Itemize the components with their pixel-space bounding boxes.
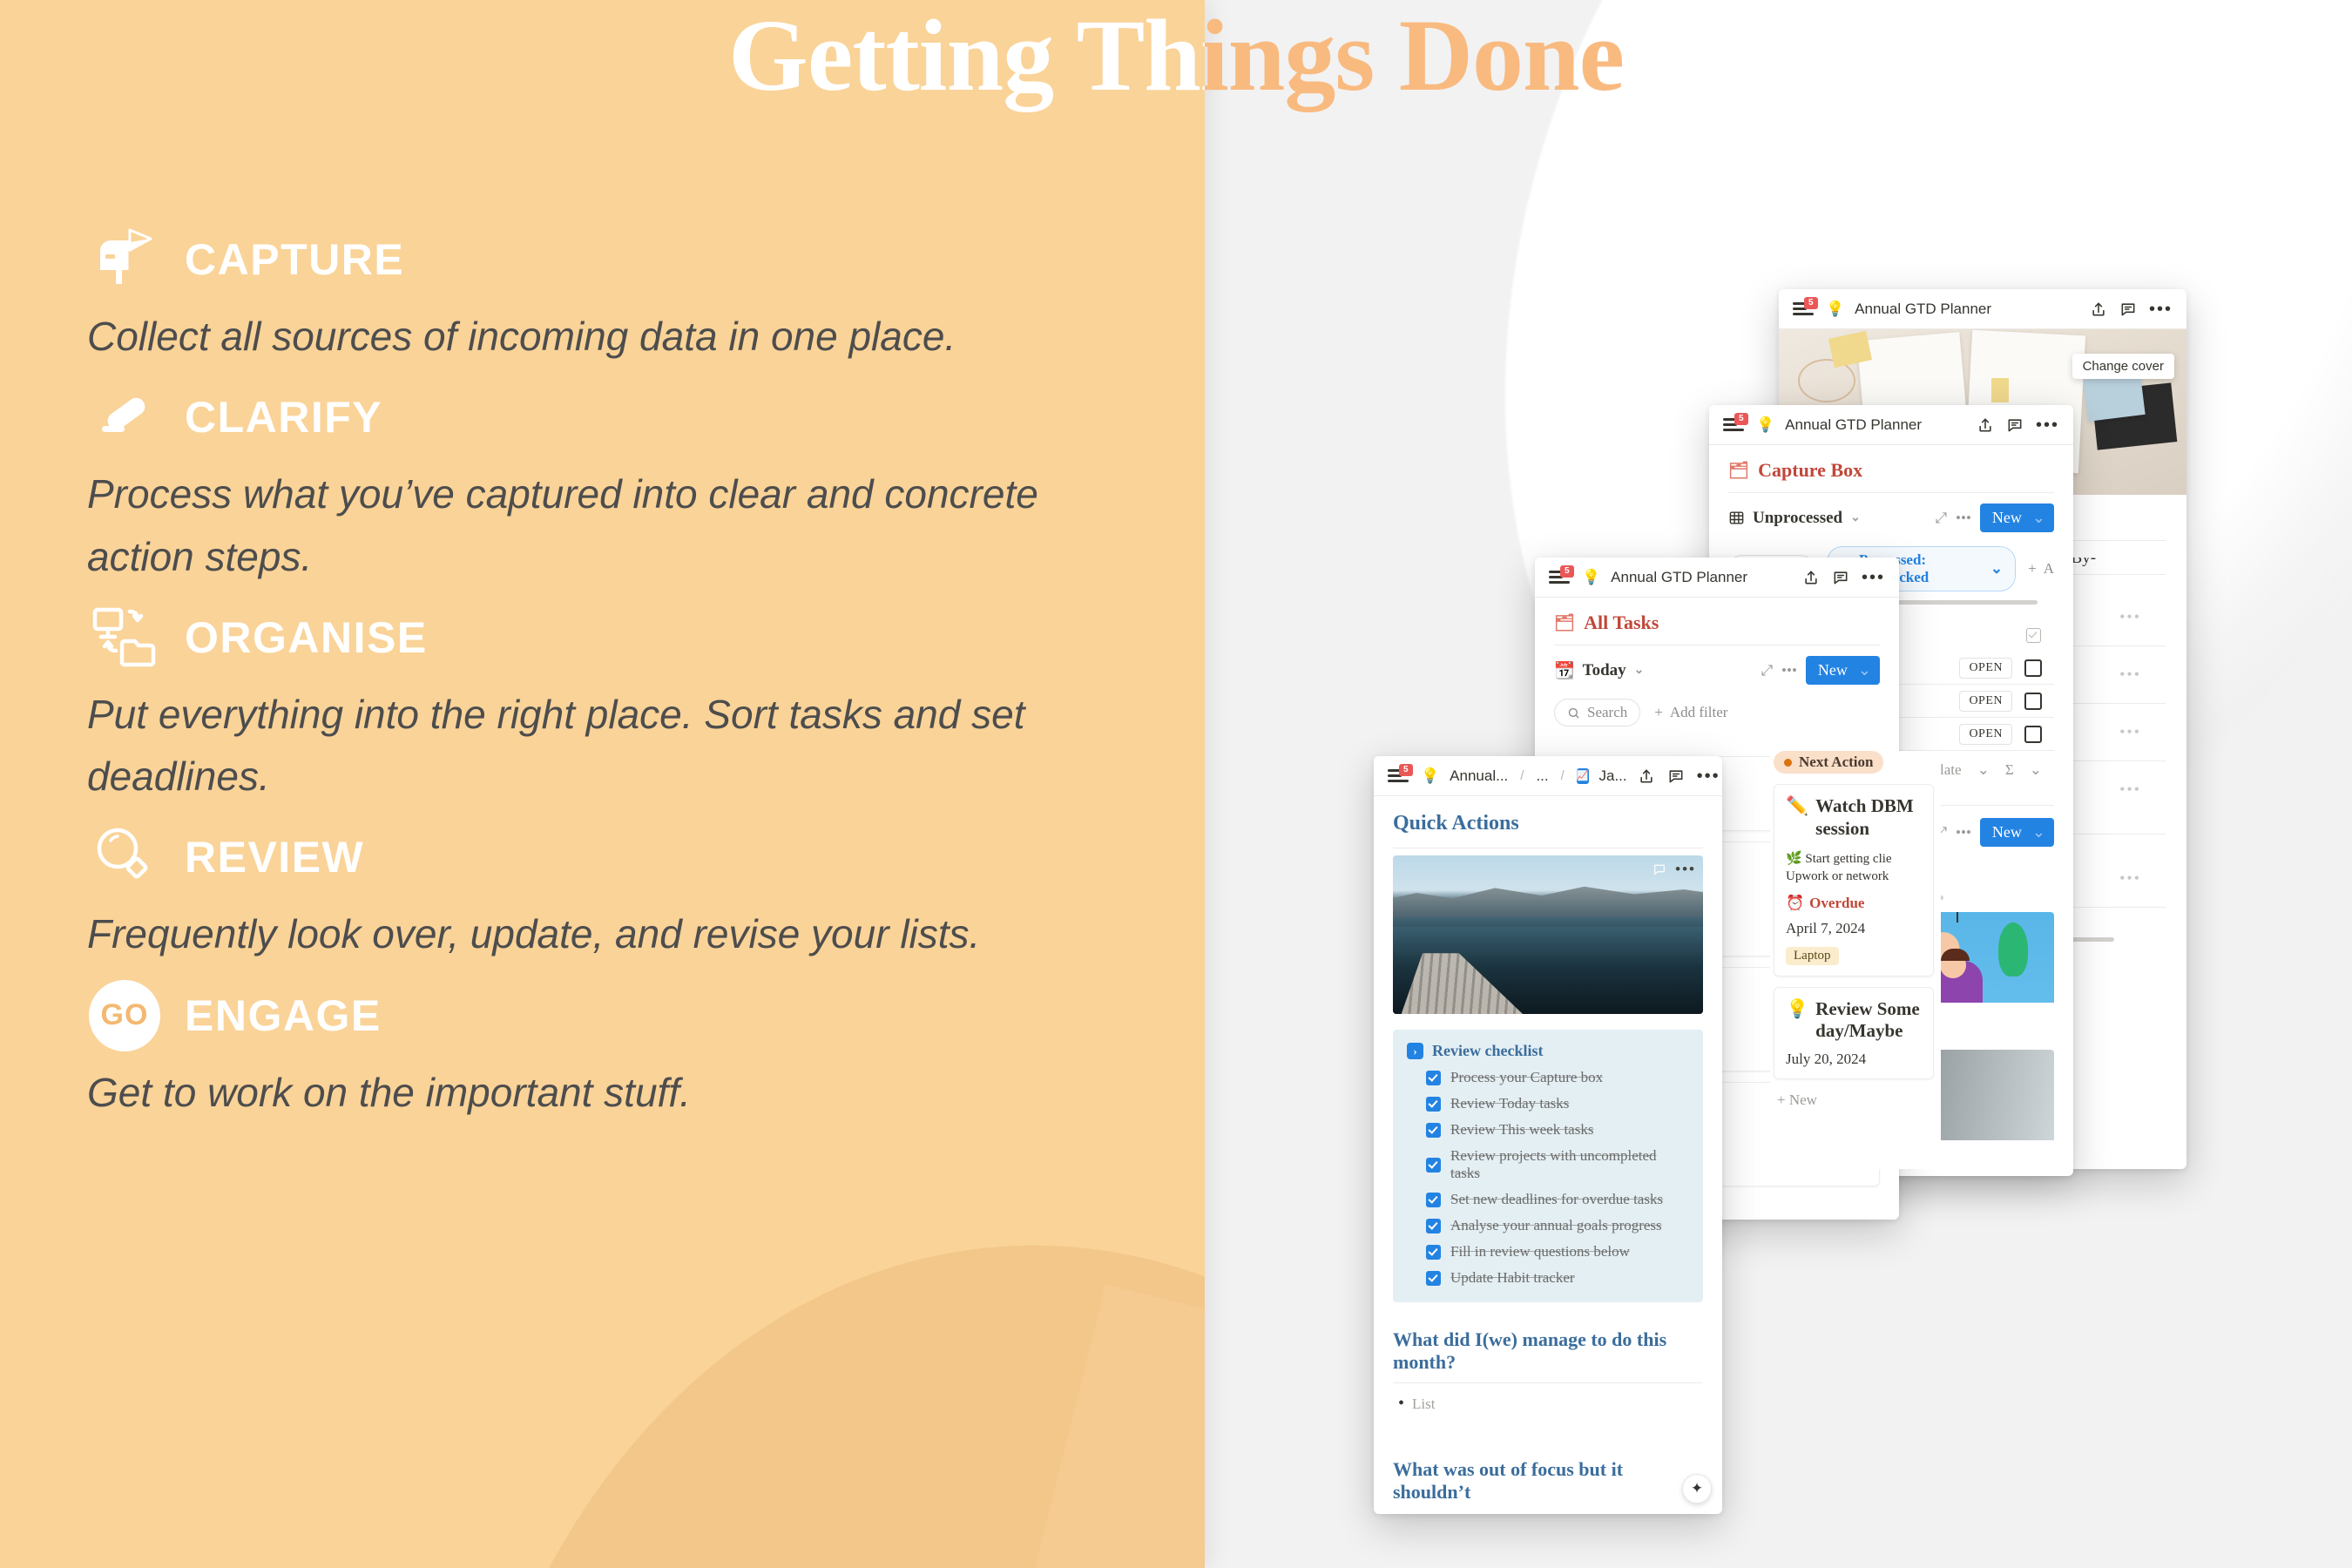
checklist-item[interactable]: Analyse your annual goals progress bbox=[1407, 1217, 1689, 1234]
breadcrumb-item-1[interactable]: Annual... bbox=[1450, 767, 1508, 785]
breadcrumb-item-2[interactable]: ... bbox=[1536, 767, 1548, 785]
share-icon[interactable] bbox=[1802, 569, 1820, 586]
page-heading-quick-actions: Quick Actions bbox=[1393, 812, 1703, 835]
chevron-down-icon: ⌄ bbox=[1850, 510, 1861, 525]
step-capture: CAPTURE Collect all sources of incoming … bbox=[87, 222, 1132, 368]
row-checkbox[interactable] bbox=[2024, 693, 2042, 710]
comment-icon[interactable] bbox=[2006, 416, 2024, 434]
search-icon bbox=[1567, 706, 1580, 720]
chevron-down-icon: ⌄ bbox=[1634, 663, 1645, 678]
checklist-item[interactable]: Review This week tasks bbox=[1407, 1121, 1689, 1139]
view-selector-today[interactable]: 📆 Today ⌄ bbox=[1554, 660, 1644, 681]
search-input[interactable]: Search bbox=[1554, 699, 1640, 727]
task-title: ✏️ Watch DBM session bbox=[1786, 795, 1922, 840]
share-icon[interactable] bbox=[1977, 416, 1994, 434]
comment-icon[interactable] bbox=[1667, 767, 1685, 785]
chevron-down-icon: ⌄ bbox=[1977, 761, 1990, 779]
new-button[interactable]: New ⌄ bbox=[1806, 656, 1880, 685]
step-desc-capture: Collect all sources of incoming data in … bbox=[87, 306, 1115, 368]
step-organise: ORGANISE Put everything into the right p… bbox=[87, 600, 1132, 808]
status-dot-icon bbox=[1784, 759, 1792, 767]
task-subtitle: 🌿 Start getting clie Upwork or network bbox=[1786, 850, 1922, 886]
checkbox-icon[interactable] bbox=[1426, 1097, 1441, 1112]
checklist-item[interactable]: Review Today tasks bbox=[1407, 1095, 1689, 1112]
checklist-heading[interactable]: › Review checklist bbox=[1407, 1042, 1689, 1060]
database-title-all-tasks[interactable]: 🗂 All Tasks bbox=[1554, 612, 1880, 634]
checkbox-icon[interactable] bbox=[1426, 1123, 1441, 1138]
column-header-next-action[interactable]: Next Action bbox=[1774, 751, 1883, 774]
topbar: 5 💡 Annual GTD Planner ••• bbox=[1535, 558, 1899, 598]
share-icon[interactable] bbox=[2090, 301, 2107, 318]
go-badge-label: GO bbox=[89, 980, 160, 1051]
cover-decor bbox=[2083, 373, 2145, 422]
review-answer-placeholder[interactable]: List bbox=[1393, 1396, 1703, 1413]
comment-icon[interactable] bbox=[1652, 862, 1666, 876]
chevron-down-icon: ⌄ bbox=[2032, 823, 2045, 841]
view-more-icon[interactable]: ••• bbox=[1956, 510, 1971, 527]
step-desc-review: Frequently look over, update, and revise… bbox=[87, 903, 1115, 965]
bulb-icon: 💡 bbox=[1756, 417, 1774, 432]
bulb-icon: 💡 bbox=[1826, 301, 1844, 316]
page-title: Getting Things Done Getting Things Done bbox=[0, 0, 2352, 139]
more-icon[interactable]: ••• bbox=[1862, 572, 1885, 583]
breadcrumb-separator: / bbox=[1559, 768, 1566, 783]
bulb-icon: 💡 bbox=[1582, 570, 1600, 585]
comment-icon[interactable] bbox=[1832, 569, 1849, 586]
expand-icon[interactable]: ⤢ bbox=[1935, 510, 1947, 527]
more-icon[interactable]: ••• bbox=[1697, 771, 1720, 781]
bulb-icon: 💡 bbox=[1421, 768, 1439, 783]
more-icon[interactable]: ••• bbox=[2149, 304, 2173, 314]
checkbox-icon[interactable] bbox=[1426, 1219, 1441, 1233]
database-icon: 🗂 bbox=[1728, 460, 1749, 481]
checkbox-icon[interactable] bbox=[1426, 1193, 1441, 1207]
change-cover-button[interactable]: Change cover bbox=[2072, 354, 2174, 379]
database-title-capture-box[interactable]: 🗂 Capture Box bbox=[1728, 459, 2054, 482]
task-date: July 20, 2024 bbox=[1786, 1051, 1922, 1068]
magnifier-icon bbox=[87, 820, 162, 895]
plus-icon: + bbox=[2028, 560, 2037, 578]
checkbox-icon[interactable] bbox=[1426, 1158, 1441, 1173]
chart-icon: 📈 bbox=[1577, 768, 1589, 784]
notification-badge: 5 bbox=[1560, 565, 1574, 578]
step-desc-engage: Get to work on the important stuff. bbox=[87, 1062, 1115, 1124]
row-checkbox[interactable] bbox=[2024, 659, 2042, 677]
calendar-icon: 📆 bbox=[1554, 660, 1575, 681]
more-icon[interactable]: ••• bbox=[1675, 865, 1696, 874]
add-new-task-button[interactable]: + New bbox=[1774, 1092, 1934, 1109]
chevron-down-icon: ⌄ bbox=[2030, 761, 2042, 779]
task-emoji-icon: ✏️ bbox=[1786, 795, 1808, 840]
mailbox-icon bbox=[87, 222, 162, 297]
mockup-quick-actions[interactable]: 5 💡 Annual... / ... / 📈 Ja... ••• Quick … bbox=[1374, 756, 1722, 1514]
new-button[interactable]: New ⌄ bbox=[1980, 504, 2054, 532]
task-title: 💡 Review Some day/Maybe bbox=[1786, 998, 1922, 1043]
open-button[interactable]: OPEN bbox=[1959, 658, 2012, 679]
comment-icon[interactable] bbox=[2119, 301, 2137, 318]
checklist-item[interactable]: Process your Capture box bbox=[1407, 1069, 1689, 1086]
chevron-down-icon: ⌄ bbox=[1990, 560, 2003, 578]
share-icon[interactable] bbox=[1638, 767, 1655, 785]
sidebar-toggle-icon[interactable]: 5 bbox=[1723, 417, 1746, 433]
topbar: 5 💡 Annual GTD Planner ••• bbox=[1779, 289, 2186, 329]
topbar-title: Annual GTD Planner bbox=[1785, 416, 1922, 434]
step-title-review: REVIEW bbox=[185, 832, 364, 882]
review-question-1: What did I(we) manage to do this month? bbox=[1393, 1328, 1703, 1374]
open-button[interactable]: OPEN bbox=[1959, 724, 2012, 745]
go-badge-icon: GO bbox=[87, 978, 162, 1053]
cover-decor bbox=[1798, 359, 1855, 402]
plus-icon: + bbox=[1777, 1092, 1786, 1108]
step-engage: GO ENGAGE Get to work on the important s… bbox=[87, 978, 1132, 1124]
database-icon: 🗂 bbox=[1554, 612, 1575, 633]
checklist-item[interactable]: Review projects with uncompleted tasks bbox=[1407, 1147, 1689, 1182]
gtd-steps-list: CAPTURE Collect all sources of incoming … bbox=[87, 222, 1132, 1136]
alarm-icon: ⏰ bbox=[1786, 895, 1804, 912]
monitor-folder-icon bbox=[87, 600, 162, 675]
view-more-icon[interactable]: ••• bbox=[1956, 824, 1971, 841]
row-checkbox[interactable] bbox=[2024, 726, 2042, 743]
plus-icon: + bbox=[1654, 704, 1663, 721]
status-badge-overdue: ⏰ Overdue bbox=[1786, 895, 1922, 912]
chevron-down-icon: ⌄ bbox=[1858, 661, 1871, 679]
notification-badge: 5 bbox=[1734, 413, 1748, 426]
task-date: April 7, 2024 bbox=[1786, 920, 1922, 937]
view-more-icon[interactable]: ••• bbox=[1781, 662, 1797, 679]
expand-icon[interactable]: ⤢ bbox=[1761, 662, 1773, 679]
review-question-2: What was out of focus but it shouldn’t bbox=[1393, 1458, 1703, 1504]
add-filter-button[interactable]: + Add filter bbox=[1654, 704, 1727, 721]
sidebar-toggle-icon[interactable]: 5 bbox=[1549, 570, 1571, 585]
topbar-title: Annual GTD Planner bbox=[1611, 569, 1747, 586]
mockup-next-action-column[interactable]: Next Action ✏️ Watch DBM session 🌿 Start… bbox=[1770, 751, 1941, 1169]
task-card[interactable]: 💡 Review Some day/Maybe July 20, 2024 bbox=[1774, 987, 1934, 1079]
poster-canvas: Getting Things Done Getting Things Done bbox=[0, 0, 2352, 1568]
view-toolbar: Unprocessed ⌄ ⤢ ••• New ⌄ bbox=[1728, 504, 2054, 532]
topbar: 5 💡 Annual... / ... / 📈 Ja... ••• bbox=[1374, 756, 1722, 796]
breadcrumb-item-3[interactable]: Ja... bbox=[1599, 767, 1627, 785]
step-clarify: CLARIFY Process what you’ve captured int… bbox=[87, 380, 1132, 588]
cover-decor bbox=[1991, 378, 2009, 402]
step-title-organise: ORGANISE bbox=[185, 612, 428, 663]
sidebar-toggle-icon[interactable]: 5 bbox=[1388, 768, 1410, 784]
pencil-icon bbox=[87, 380, 162, 455]
view-selector-unprocessed[interactable]: Unprocessed ⌄ bbox=[1728, 509, 1861, 528]
table-icon bbox=[1728, 510, 1745, 526]
notification-badge: 5 bbox=[1399, 764, 1413, 777]
checklist-item[interactable]: Fill in review questions below bbox=[1407, 1243, 1689, 1260]
topbar: 5 💡 Annual GTD Planner ••• bbox=[1709, 405, 2073, 445]
breadcrumb-separator: / bbox=[1518, 768, 1525, 783]
checklist-item[interactable]: Update Habit tracker bbox=[1407, 1269, 1689, 1287]
chevron-right-icon[interactable]: › bbox=[1407, 1043, 1423, 1059]
step-title-clarify: CLARIFY bbox=[185, 392, 382, 443]
checkbox-column-icon bbox=[2026, 628, 2041, 643]
chevron-down-icon: ⌄ bbox=[2032, 509, 2045, 527]
checkbox-icon[interactable] bbox=[1426, 1071, 1441, 1085]
review-checklist-block: › Review checklist Process your Capture … bbox=[1393, 1030, 1703, 1302]
checklist-item[interactable]: Set new deadlines for overdue tasks bbox=[1407, 1191, 1689, 1208]
step-title-engage: ENGAGE bbox=[185, 990, 382, 1041]
sidebar-toggle-icon[interactable]: 5 bbox=[1793, 301, 1815, 317]
step-title-capture: CAPTURE bbox=[185, 234, 404, 285]
ai-assist-button[interactable]: ✦ bbox=[1682, 1474, 1712, 1504]
task-tag: Laptop bbox=[1786, 947, 1839, 965]
view-toolbar: 📆 Today ⌄ ⤢ ••• New ⌄ bbox=[1554, 656, 1880, 685]
topbar-title: Annual GTD Planner bbox=[1855, 301, 1991, 318]
task-emoji-icon: 💡 bbox=[1786, 998, 1808, 1043]
new-button[interactable]: New ⌄ bbox=[1980, 818, 2054, 847]
step-review: REVIEW Frequently look over, update, and… bbox=[87, 820, 1132, 965]
checkbox-icon[interactable] bbox=[1426, 1245, 1441, 1260]
notification-badge: 5 bbox=[1804, 297, 1818, 310]
checkbox-icon[interactable] bbox=[1426, 1271, 1441, 1286]
lake-dock-photo[interactable]: ••• bbox=[1393, 855, 1703, 1014]
more-icon[interactable]: ••• bbox=[2036, 420, 2059, 430]
step-desc-organise: Put everything into the right place. Sor… bbox=[87, 684, 1115, 808]
add-filter-button[interactable]: + A bbox=[2028, 560, 2054, 578]
task-card[interactable]: ✏️ Watch DBM session 🌿 Start getting cli… bbox=[1774, 784, 1934, 977]
step-desc-clarify: Process what you’ve captured into clear … bbox=[87, 463, 1115, 588]
open-button[interactable]: OPEN bbox=[1959, 691, 2012, 712]
